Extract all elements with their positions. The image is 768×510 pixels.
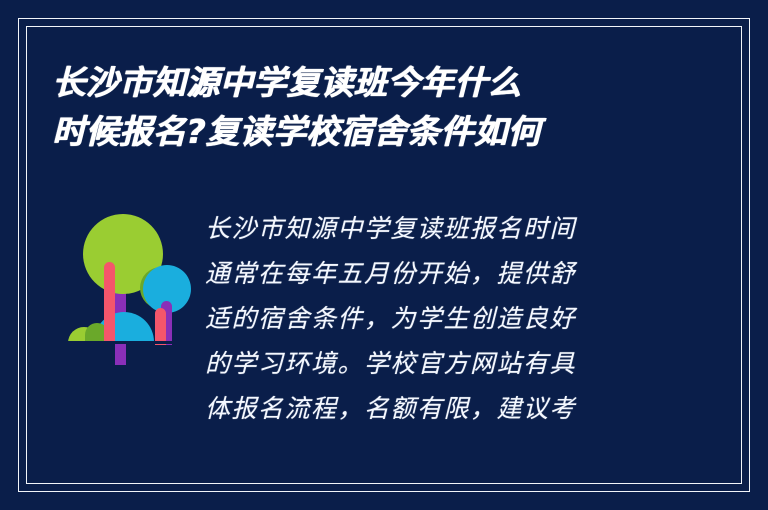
trees-illustration [55, 205, 220, 380]
title-line-1: 长沙市知源中学复读班今年什么 [52, 58, 720, 107]
poster-title: 长沙市知源中学复读班今年什么 时候报名?复读学校宿舍条件如何 [52, 58, 720, 156]
tall-trunk-pink-icon [104, 262, 115, 342]
title-line-2: 时候报名?复读学校宿舍条件如何 [52, 107, 720, 156]
poster-canvas: 长沙市知源中学复读班今年什么 时候报名?复读学校宿舍条件如何 长沙市知源中学复读… [0, 0, 768, 510]
ground-line [65, 341, 180, 344]
body-line-2: 通常在每年五月份开始，提供舒 [205, 251, 705, 296]
body-line-5: 体报名流程，名额有限，建议考 [205, 386, 705, 431]
short-trunk-pink-icon [155, 308, 166, 345]
poster-body-text: 长沙市知源中学复读班报名时间 通常在每年五月份开始，提供舒 适的宿舍条件，为学生… [205, 206, 705, 431]
body-line-4: 的学习环境。学校官方网站有具 [205, 341, 705, 386]
body-line-3: 适的宿舍条件，为学生创造良好 [205, 296, 705, 341]
body-line-1: 长沙市知源中学复读班报名时间 [205, 206, 705, 251]
